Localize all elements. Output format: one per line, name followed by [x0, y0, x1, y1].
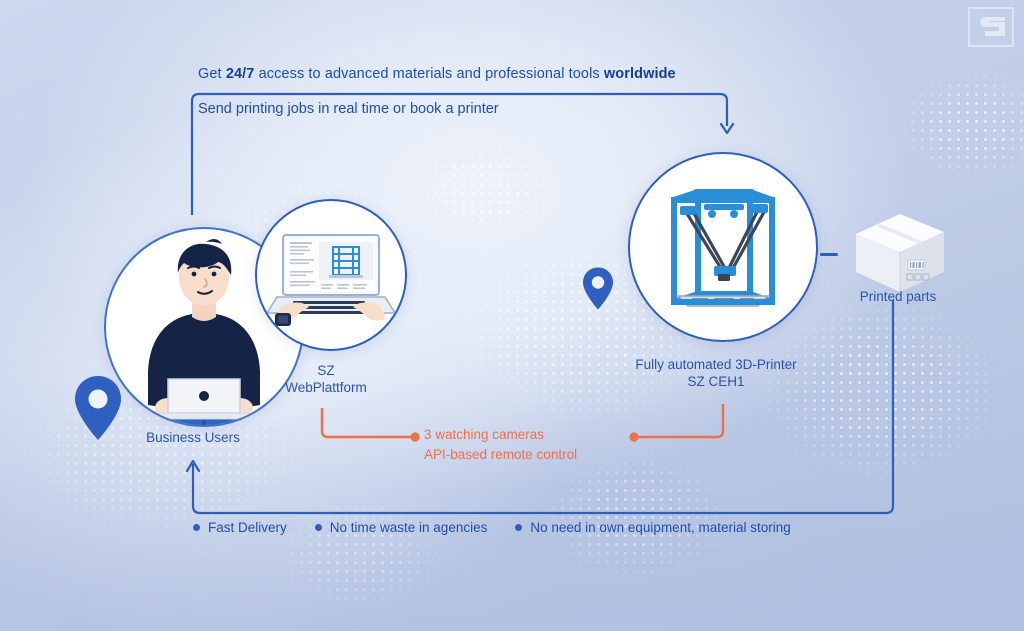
connector-dash [820, 253, 838, 256]
headline-middle: access to advanced materials and profess… [254, 66, 603, 82]
headline-strong-worldwide: worldwide [604, 66, 676, 82]
subline-text: Send printing jobs in real time or book … [198, 101, 499, 117]
printer-label-line2: SZ CEH1 [687, 374, 744, 389]
laptop-hands-illustration [257, 201, 405, 349]
benefits-list: Fast Delivery No time waste in agencies … [193, 520, 791, 535]
headline-prefix: Get [198, 66, 226, 82]
web-platform-label-line2: WebPlattform [285, 380, 367, 395]
bullet-dot-icon [515, 524, 522, 531]
benefit-label-2: No time waste in agencies [330, 520, 488, 535]
bullet-dot-icon [193, 524, 200, 531]
benefit-label-3: No need in own equipment, material stori… [530, 520, 790, 535]
benefit-item-3: No need in own equipment, material stori… [515, 520, 790, 535]
monitoring-dot-left [410, 432, 419, 441]
business-users-label: Business Users [130, 430, 256, 447]
web-platform-node [255, 199, 407, 351]
connector-monitoring-right [637, 404, 723, 437]
cardboard-box-icon [852, 212, 948, 294]
printer-label-line1: Fully automated 3D-Printer [635, 357, 796, 372]
monitoring-dot-right [629, 432, 638, 441]
map-pin-icon-printer [581, 266, 615, 311]
benefit-item-2: No time waste in agencies [315, 520, 488, 535]
headline-strong-247: 24/7 [226, 66, 255, 82]
monitoring-note: 3 watching cameras API-based remote cont… [424, 425, 577, 466]
web-platform-label: SZ WebPlattform [278, 363, 374, 397]
monitoring-line-2: API-based remote control [424, 445, 577, 465]
printer-label: Fully automated 3D-Printer SZ CEH1 [620, 357, 812, 391]
map-pin-icon-users [72, 374, 124, 442]
bullet-dot-icon [315, 524, 322, 531]
headline: Get 24/7 access to advanced materials an… [198, 66, 676, 82]
3d-printer-illustration [630, 154, 816, 340]
infographic-canvas: Get 24/7 access to advanced materials an… [0, 0, 1024, 631]
printer-node [628, 152, 818, 342]
printed-parts-label: Printed parts [840, 289, 956, 306]
web-platform-label-line1: SZ [317, 363, 334, 378]
benefit-label-1: Fast Delivery [208, 520, 287, 535]
connector-monitoring-left [322, 408, 412, 437]
monitoring-line-1: 3 watching cameras [424, 425, 577, 445]
benefit-item-1: Fast Delivery [193, 520, 287, 535]
